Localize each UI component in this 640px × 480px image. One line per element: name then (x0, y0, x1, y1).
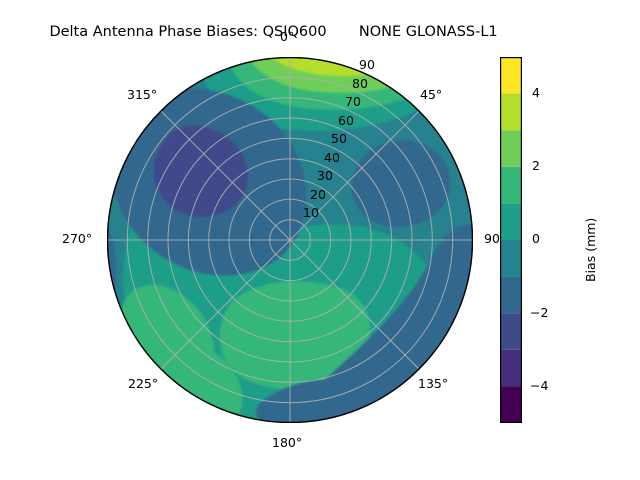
colorbar (500, 57, 522, 423)
radial-tick-40: 40 (324, 152, 340, 165)
polar-grid (107, 57, 473, 423)
colorbar-tick-4: 4 (532, 87, 540, 100)
page-title: Delta Antenna Phase Biases: QSIQ600 NONE… (0, 8, 640, 56)
colorbar-bands (500, 57, 522, 423)
radial-tick-80: 80 (352, 78, 368, 91)
colorbar-axis-label: Bias (mm) (583, 218, 598, 282)
theta-tick-90: 90 (484, 233, 500, 246)
theta-tick-45: 45° (420, 89, 442, 102)
colorbar-tick-minus4: −4 (530, 380, 548, 393)
radial-tick-60: 60 (338, 115, 354, 128)
radial-tick-50: 50 (331, 133, 347, 146)
theta-tick-0: 0° (280, 31, 294, 44)
radial-tick-10: 10 (303, 207, 319, 220)
theta-tick-270: 270° (62, 233, 92, 246)
radial-tick-70: 70 (345, 96, 361, 109)
contour-fill-group (107, 57, 473, 423)
radial-tick-90: 90 (359, 59, 375, 72)
theta-tick-315: 315° (127, 89, 157, 102)
figure-canvas: Delta Antenna Phase Biases: QSIQ600 NONE… (0, 0, 640, 480)
polar-contour-svg (107, 57, 473, 423)
radial-tick-30: 30 (317, 170, 333, 183)
radial-tick-20: 20 (310, 189, 326, 202)
theta-tick-180: 180° (272, 437, 302, 450)
theta-tick-225: 225° (128, 378, 158, 391)
colorbar-tick-2: 2 (532, 160, 540, 173)
polar-axes (107, 57, 473, 423)
theta-tick-135: 135° (418, 378, 448, 391)
title-text: Delta Antenna Phase Biases: QSIQ600 NONE… (49, 24, 497, 40)
colorbar-gradient (500, 57, 522, 423)
colorbar-tick-0: 0 (532, 233, 540, 246)
colorbar-tick-minus2: −2 (530, 307, 548, 320)
